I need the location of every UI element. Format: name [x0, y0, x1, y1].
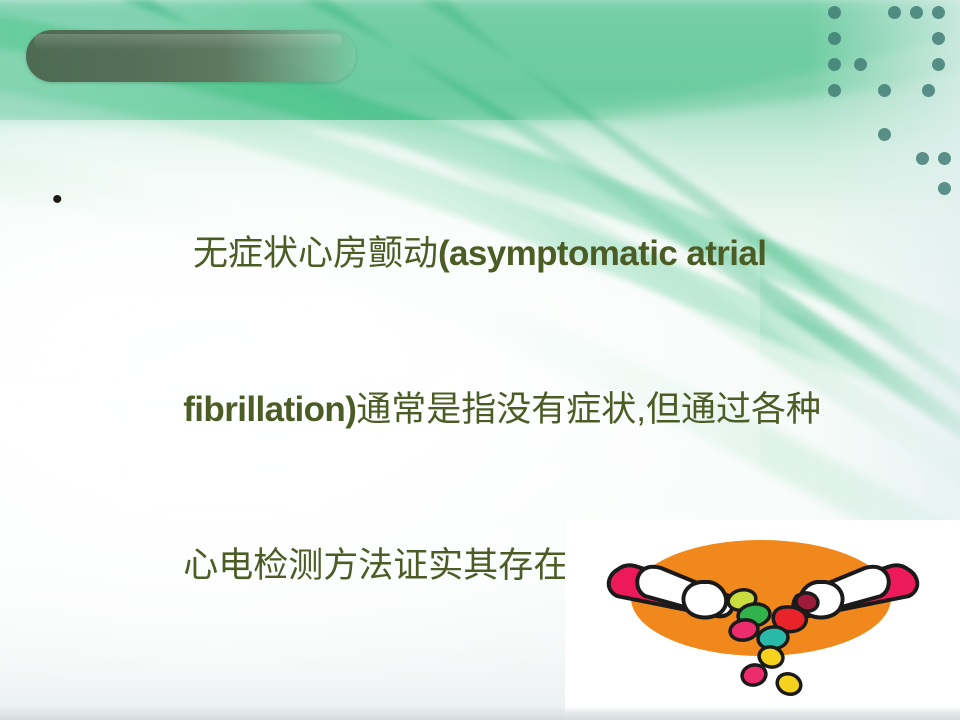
bullet-marker: • — [44, 176, 86, 224]
bullet-1-line-2-en: fibrillation) — [183, 390, 356, 429]
title-placeholder-bar[interactable] — [26, 30, 356, 82]
bullet-1-line-2-zh: 通常是指没有症状,但通过各种 — [356, 390, 821, 429]
title-bar-highlight — [34, 34, 342, 50]
bullet-1-line-1-zh: 无症状心房颤动 — [183, 234, 438, 273]
bullet-1-line-1-en: (asymptomatic atrial — [438, 234, 766, 273]
pills-capsules-illustration — [565, 520, 960, 720]
pill-pink-2 — [740, 662, 768, 687]
pills-image-placeholder[interactable] — [565, 520, 960, 720]
slide-bottom-band — [0, 706, 960, 720]
slide-canvas: • 无症状心房颤动(asymptomatic atrial fibrillati… — [0, 0, 960, 720]
pill-yellow-2 — [774, 670, 803, 697]
